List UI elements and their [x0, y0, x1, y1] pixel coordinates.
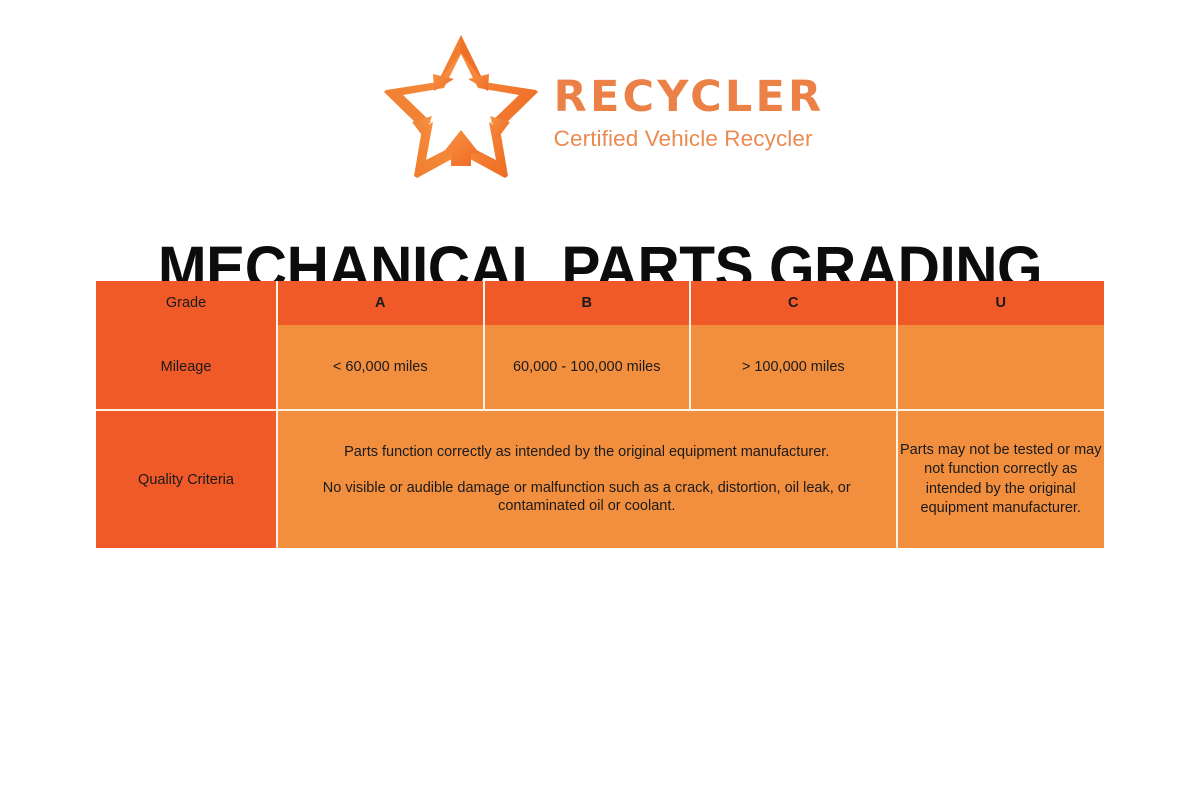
cell-mileage-c: > 100,000 miles	[691, 325, 898, 411]
table-header-row: Grade A B C U	[96, 281, 1104, 325]
cell-mileage-b: 60,000 - 100,000 miles	[485, 325, 692, 411]
logo-tagline: Certified Vehicle Recycler	[554, 126, 813, 152]
column-header-c: C	[691, 281, 898, 325]
column-header-a: A	[278, 281, 485, 325]
brand-logo: RECYCLER Certified Vehicle Recycler	[0, 26, 1200, 186]
logo-inner: RECYCLER Certified Vehicle Recycler	[376, 30, 825, 182]
quality-criteria-paragraph-2: No visible or audible damage or malfunct…	[278, 479, 896, 516]
row-label-mileage: Mileage	[96, 325, 278, 411]
table-row-quality-criteria: Quality Criteria Parts function correctl…	[96, 411, 1104, 548]
mechanical-parts-grading-table: Grade A B C U Mileage < 60,000 miles 60,…	[96, 281, 1104, 548]
cell-quality-criteria-abc: Parts function correctly as intended by …	[278, 411, 898, 548]
quality-criteria-paragraph-1: Parts function correctly as intended by …	[278, 443, 896, 462]
column-header-u: U	[898, 281, 1105, 325]
table-row-mileage: Mileage < 60,000 miles 60,000 - 100,000 …	[96, 325, 1104, 411]
logo-text-group: RECYCLER Certified Vehicle Recycler	[554, 60, 825, 152]
cell-mileage-u	[898, 325, 1105, 411]
column-header-b: B	[485, 281, 692, 325]
cell-quality-criteria-u: Parts may not be tested or may not funct…	[898, 411, 1105, 548]
column-header-grade: Grade	[96, 281, 278, 325]
recycling-star-icon	[376, 30, 546, 182]
row-label-quality-criteria: Quality Criteria	[96, 411, 278, 548]
cell-mileage-a: < 60,000 miles	[278, 325, 485, 411]
logo-wordmark: RECYCLER	[554, 76, 825, 120]
